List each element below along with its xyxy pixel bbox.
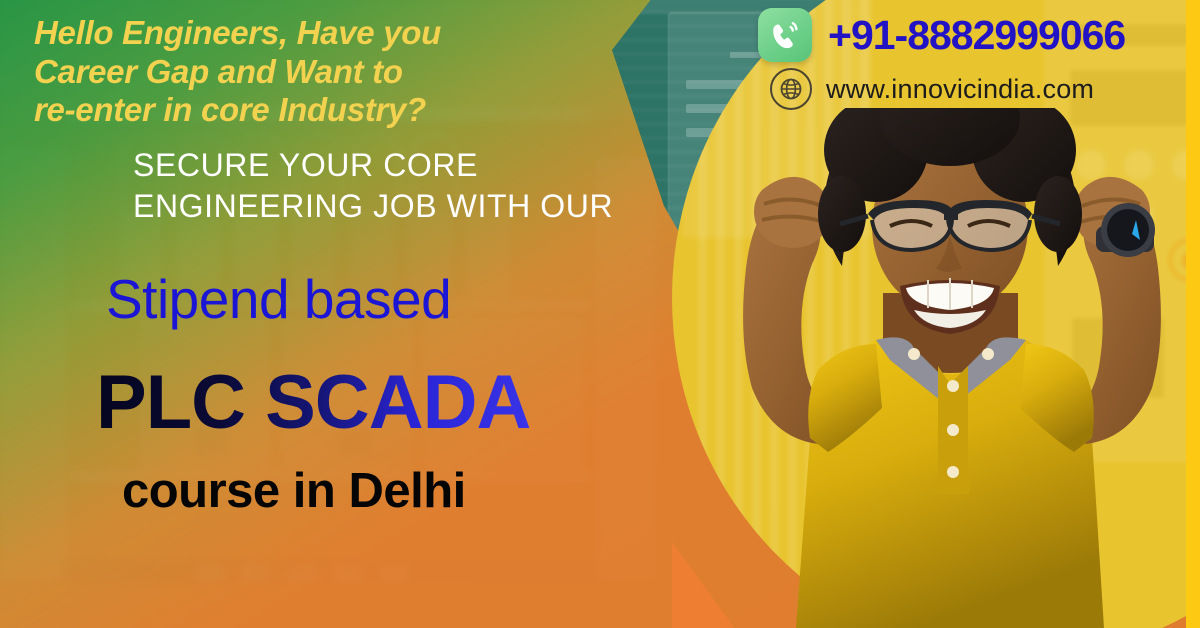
headline: Hello Engineers, Have you Career Gap and…: [34, 14, 594, 130]
phone-number[interactable]: +91-8882999066: [828, 15, 1125, 56]
website-url[interactable]: www.innovicindia.com: [826, 74, 1094, 105]
course-location: course in Delhi: [122, 467, 466, 516]
subheadline: SECURE YOUR CORE ENGINEERING JOB WITH OU…: [133, 145, 703, 227]
globe-icon: [770, 68, 812, 110]
phone-row[interactable]: +91-8882999066: [758, 8, 1188, 62]
headline-line-1: Hello Engineers, Have you: [34, 14, 594, 53]
stipend-label: Stipend based: [106, 272, 451, 327]
phone-call-icon: [758, 8, 812, 62]
headline-line-2: Career Gap and Want to: [34, 53, 594, 92]
subheadline-line-2: ENGINEERING JOB WITH OUR: [133, 186, 703, 227]
subheadline-line-1: SECURE YOUR CORE: [133, 145, 703, 186]
headline-line-3: re-enter in core Industry?: [34, 91, 594, 130]
contact-block: +91-8882999066 www.innovicindia.com: [758, 8, 1188, 110]
promo-banner: +91-8882999066 www.innovicindia.com Hell…: [0, 0, 1200, 628]
website-row[interactable]: www.innovicindia.com: [758, 68, 1188, 110]
course-title: PLC SCADA: [96, 365, 530, 441]
celebrating-engineer-photo: [700, 108, 1200, 628]
right-edge-stripe: [1186, 0, 1200, 628]
